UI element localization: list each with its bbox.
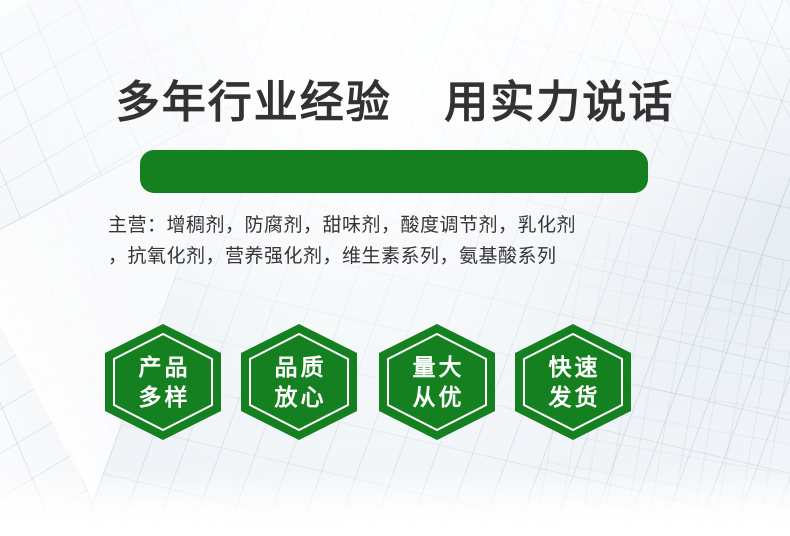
badge-label: 量大 从优 [377, 322, 497, 442]
badge-label-line-2: 从优 [410, 382, 465, 412]
badge-label-line-2: 多样 [136, 382, 191, 412]
badge-label: 品质 放心 [239, 322, 359, 442]
promo-banner: 多年行业经验 用实力说话 主营：增稠剂，防腐剂，甜味剂，酸度调节剂，乳化剂 ，抗… [0, 0, 790, 536]
badge-bulk-discount[interactable]: 量大 从优 [377, 322, 497, 442]
headline: 多年行业经验 用实力说话 [0, 66, 790, 130]
badge-product-variety[interactable]: 产品 多样 [103, 322, 223, 442]
badge-label: 快速 发货 [513, 322, 633, 442]
badge-label-line-2: 放心 [272, 382, 327, 412]
badge-label-line-1: 快速 [546, 352, 601, 382]
banner-content: 多年行业经验 用实力说话 主营：增稠剂，防腐剂，甜味剂，酸度调节剂，乳化剂 ，抗… [0, 0, 790, 536]
badge-label: 产品 多样 [103, 322, 223, 442]
product-categories-text: 主营：增稠剂，防腐剂，甜味剂，酸度调节剂，乳化剂 ，抗氧化剂，营养强化剂，维生素… [108, 210, 692, 272]
green-divider-bar [140, 150, 648, 193]
headline-secondary: 用实力说话 [444, 78, 674, 127]
headline-primary: 多年行业经验 [116, 78, 392, 127]
product-categories-line-1: 主营：增稠剂，防腐剂，甜味剂，酸度调节剂，乳化剂 [108, 210, 692, 241]
product-categories-line-2: ，抗氧化剂，营养强化剂，维生素系列，氨基酸系列 [108, 241, 692, 272]
badge-quality-assurance[interactable]: 品质 放心 [239, 322, 359, 442]
badge-label-line-1: 产品 [136, 352, 191, 382]
badge-label-line-1: 品质 [272, 352, 327, 382]
badge-label-line-2: 发货 [546, 382, 601, 412]
badge-fast-shipping[interactable]: 快速 发货 [513, 322, 633, 442]
feature-badges: 产品 多样 品质 放心 量大 [100, 322, 700, 442]
badge-label-line-1: 量大 [410, 352, 465, 382]
